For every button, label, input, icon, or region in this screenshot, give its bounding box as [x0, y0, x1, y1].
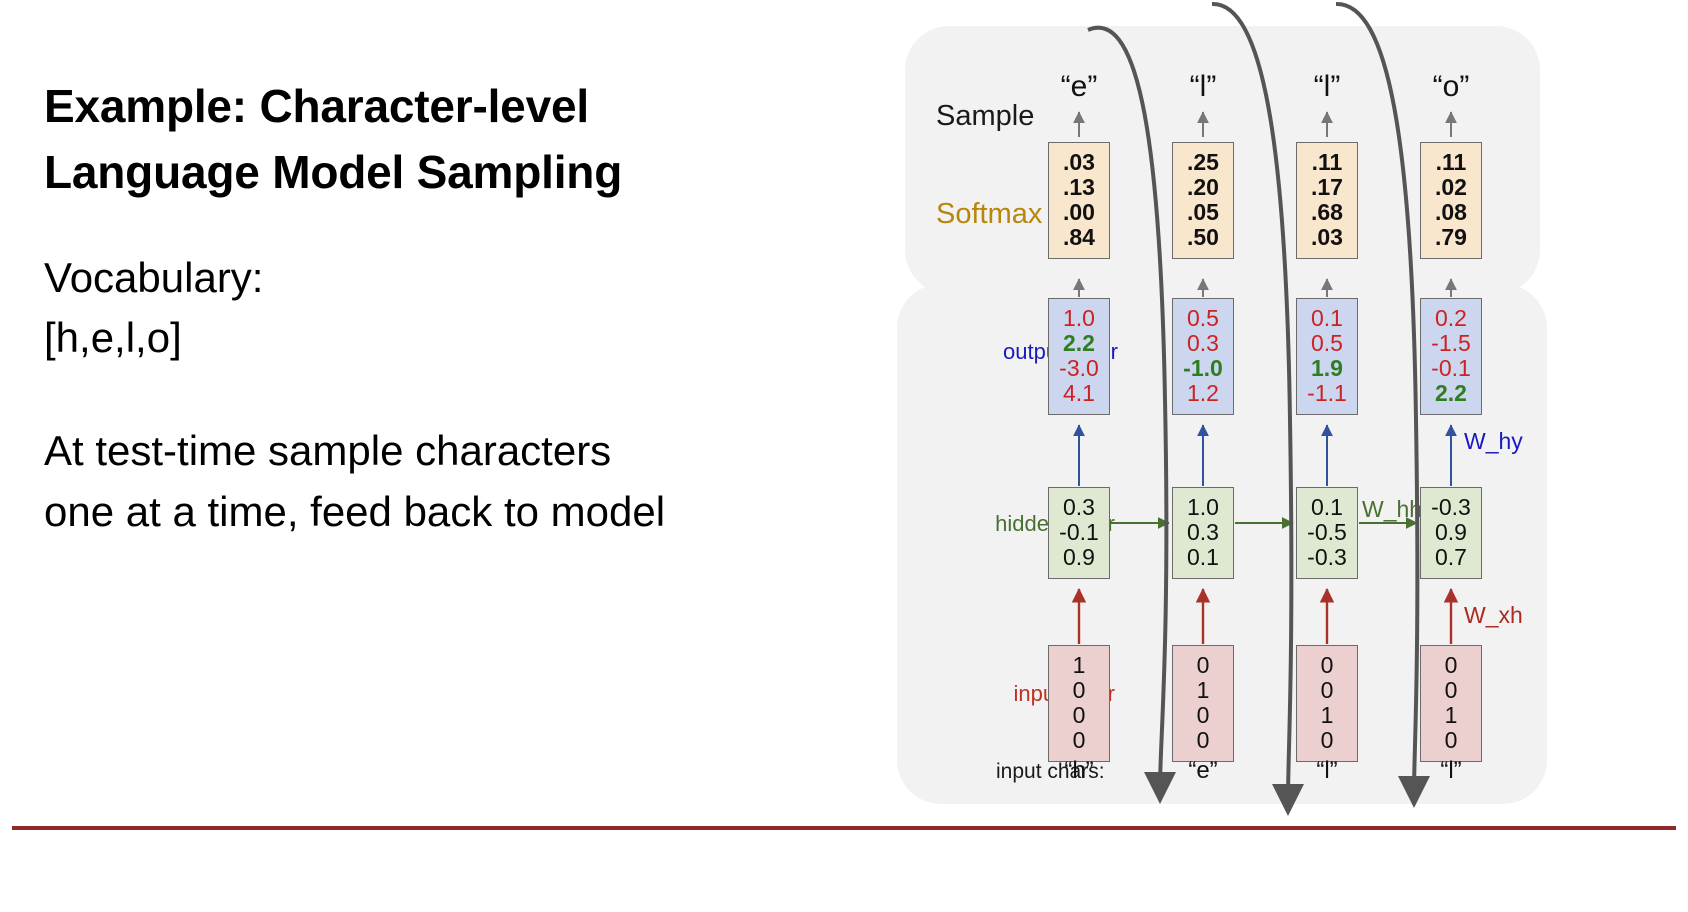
row-label-sample: Sample	[936, 100, 1034, 133]
hidden-value: -0.5	[1297, 520, 1357, 545]
output-value: 0.5	[1297, 331, 1357, 356]
softmax-value: .68	[1297, 200, 1357, 225]
input-char: “e”	[1172, 757, 1234, 785]
output-value: 0.1	[1297, 306, 1357, 331]
softmax-value: .11	[1297, 150, 1357, 175]
input-value: 0	[1049, 678, 1109, 703]
input-vector: 0100	[1172, 645, 1234, 762]
input-value: 0	[1421, 728, 1481, 753]
output-value: 0.2	[1421, 306, 1481, 331]
weight-label-w-hh: W_hh	[1362, 496, 1422, 523]
sampled-char: “l”	[1296, 70, 1358, 104]
output-value: 0.3	[1173, 331, 1233, 356]
hidden-value: 0.3	[1173, 520, 1233, 545]
sampled-char: “l”	[1172, 70, 1234, 104]
hidden-value: 1.0	[1173, 495, 1233, 520]
hidden-vector: -0.30.90.7	[1420, 487, 1482, 579]
sample-arrows	[1079, 112, 1451, 137]
weight-label-w-hy: W_hy	[1464, 428, 1523, 455]
softmax-vector: .11.17.68.03	[1296, 142, 1358, 259]
input-char: “l”	[1296, 757, 1358, 785]
softmax-value: .05	[1173, 200, 1233, 225]
softmax-vector: .11.02.08.79	[1420, 142, 1482, 259]
input-value: 0	[1297, 653, 1357, 678]
input-value: 0	[1173, 703, 1233, 728]
w-hy-arrows	[1079, 425, 1451, 486]
output-value: 0.5	[1173, 306, 1233, 331]
sampled-char: “e”	[1048, 70, 1110, 104]
output-vector: 0.2-1.5-0.12.2	[1420, 298, 1482, 415]
input-vector: 0010	[1420, 645, 1482, 762]
input-value: 0	[1173, 653, 1233, 678]
hidden-value: -0.3	[1421, 495, 1481, 520]
hidden-value: -0.1	[1049, 520, 1109, 545]
output-vector: 0.50.3-1.01.2	[1172, 298, 1234, 415]
output-value: -3.0	[1049, 356, 1109, 381]
w-xh-arrows	[1079, 589, 1451, 644]
input-vector: 1000	[1048, 645, 1110, 762]
output-vector: 1.02.2-3.04.1	[1048, 298, 1110, 415]
feedback-curves	[1088, 4, 1417, 800]
hidden-vector: 1.00.30.1	[1172, 487, 1234, 579]
output-value: 1.0	[1049, 306, 1109, 331]
softmax-value: .08	[1421, 200, 1481, 225]
hidden-value: 0.1	[1297, 495, 1357, 520]
softmax-value: .25	[1173, 150, 1233, 175]
input-value: 0	[1173, 728, 1233, 753]
input-char: “h”	[1048, 757, 1110, 785]
softmax-value: .02	[1421, 175, 1481, 200]
input-value: 0	[1297, 728, 1357, 753]
output-value: -1.1	[1297, 381, 1357, 406]
hidden-value: 0.9	[1421, 520, 1481, 545]
softmax-value: .50	[1173, 225, 1233, 250]
output-value: -1.5	[1421, 331, 1481, 356]
softmax-value: .11	[1421, 150, 1481, 175]
input-value: 0	[1049, 728, 1109, 753]
output-value: 2.2	[1421, 381, 1481, 406]
rnn-diagram: Sample Softmax output layer hidden layer…	[0, 0, 1688, 912]
input-value: 1	[1049, 653, 1109, 678]
hidden-value: -0.3	[1297, 545, 1357, 570]
softmax-value: .13	[1049, 175, 1109, 200]
hidden-value: 0.9	[1049, 545, 1109, 570]
output-value: 2.2	[1049, 331, 1109, 356]
softmax-value: .84	[1049, 225, 1109, 250]
softmax-vector: .25.20.05.50	[1172, 142, 1234, 259]
input-value: 0	[1297, 678, 1357, 703]
input-value: 0	[1421, 678, 1481, 703]
output-vector: 0.10.51.9-1.1	[1296, 298, 1358, 415]
hidden-value: 0.7	[1421, 545, 1481, 570]
output-value: -1.0	[1173, 356, 1233, 381]
input-char: “l”	[1420, 757, 1482, 785]
hidden-vector: 0.3-0.10.9	[1048, 487, 1110, 579]
hidden-vector: 0.1-0.5-0.3	[1296, 487, 1358, 579]
sampled-char: “o”	[1420, 70, 1482, 104]
output-value: 4.1	[1049, 381, 1109, 406]
softmax-value: .17	[1297, 175, 1357, 200]
weight-label-w-xh: W_xh	[1464, 602, 1523, 629]
input-value: 1	[1421, 703, 1481, 728]
output-value: 1.2	[1173, 381, 1233, 406]
row-label-softmax: Softmax	[936, 198, 1042, 231]
softmax-value: .03	[1297, 225, 1357, 250]
input-value: 0	[1049, 703, 1109, 728]
softmax-value: .00	[1049, 200, 1109, 225]
output-to-softmax-arrows	[1079, 279, 1451, 297]
output-value: 1.9	[1297, 356, 1357, 381]
hidden-value: 0.3	[1049, 495, 1109, 520]
input-vector: 0010	[1296, 645, 1358, 762]
output-value: -0.1	[1421, 356, 1481, 381]
softmax-vector: .03.13.00.84	[1048, 142, 1110, 259]
softmax-value: .03	[1049, 150, 1109, 175]
input-value: 1	[1173, 678, 1233, 703]
input-value: 0	[1421, 653, 1481, 678]
hidden-value: 0.1	[1173, 545, 1233, 570]
softmax-value: .79	[1421, 225, 1481, 250]
slide-canvas: Example: Character-level Language Model …	[0, 0, 1688, 912]
softmax-value: .20	[1173, 175, 1233, 200]
input-value: 1	[1297, 703, 1357, 728]
